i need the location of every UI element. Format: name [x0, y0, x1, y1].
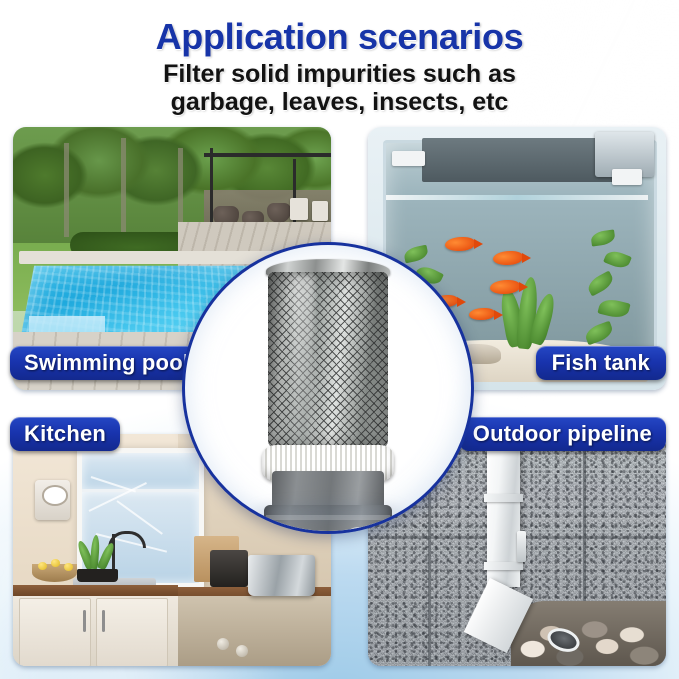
plant-pot	[77, 569, 118, 583]
subtitle-line-1: Filter solid impurities such as	[0, 61, 679, 88]
kitchen-island	[178, 596, 331, 666]
product-highlight-circle	[182, 242, 474, 534]
potted-plant	[77, 550, 118, 582]
label-text: Fish tank	[552, 350, 650, 376]
kitchen-countertop	[13, 585, 178, 597]
tree-trunk	[121, 138, 126, 238]
pipe-collar	[484, 494, 523, 502]
page-title: Application scenarios	[0, 0, 679, 58]
infographic-canvas: Application scenarios Filter solid impur…	[0, 0, 679, 679]
lemon	[38, 562, 47, 570]
kitchen-appliance	[210, 550, 248, 587]
lemon	[64, 563, 73, 571]
tree-trunk	[64, 143, 69, 238]
patio-chair	[312, 201, 328, 221]
label-text: Kitchen	[24, 421, 106, 447]
plant-leaf	[585, 271, 616, 297]
stove-knob	[217, 638, 229, 650]
plant-leaf	[583, 321, 615, 346]
label-fish-tank[interactable]: Fish tank	[536, 346, 666, 380]
plant-leaf	[603, 248, 632, 271]
plant-leaf	[597, 297, 630, 321]
stove-knob	[236, 645, 248, 657]
tank-clip	[612, 169, 642, 185]
stainless-steel-pot	[248, 555, 315, 597]
tank-water-surface	[386, 195, 648, 200]
clock-face	[42, 485, 68, 506]
product-image-strainer	[262, 259, 394, 533]
fish	[493, 251, 523, 265]
tree-trunk	[178, 148, 183, 232]
header: Application scenarios Filter solid impur…	[0, 0, 679, 126]
strainer-wire-mesh	[268, 272, 388, 450]
pergola-beam	[204, 153, 331, 157]
fish	[490, 280, 520, 294]
tank-clip	[392, 151, 425, 167]
product-shadow	[253, 503, 403, 521]
cabinet-handle	[83, 610, 86, 632]
pool-coping	[19, 251, 273, 264]
plant-leaf	[590, 230, 616, 247]
label-swimming-pool[interactable]: Swimming pool	[10, 346, 203, 380]
pipe-collar	[484, 562, 523, 570]
label-outdoor-pipeline[interactable]: Outdoor pipeline	[459, 417, 666, 451]
wall-clock	[35, 480, 70, 519]
cabinet-door	[19, 598, 91, 666]
plant-leaf	[403, 245, 429, 264]
label-text: Swimming pool	[24, 350, 189, 376]
aquatic-plant	[583, 203, 645, 353]
label-kitchen[interactable]: Kitchen	[10, 417, 120, 451]
river-rocks	[511, 601, 666, 666]
subtitle-line-2: garbage, leaves, insects, etc	[0, 89, 679, 116]
mesh-highlight	[292, 275, 314, 447]
patio-chair	[290, 198, 308, 220]
cabinet-handle	[102, 610, 105, 632]
label-text: Outdoor pipeline	[473, 421, 652, 447]
pipe-bracket	[517, 531, 526, 561]
cabinet-door	[96, 598, 168, 666]
